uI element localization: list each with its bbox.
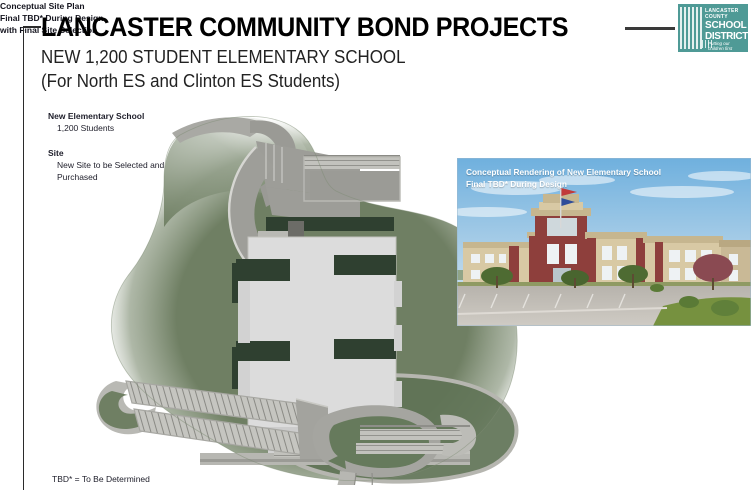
logo-tagline: Putting our children first [708,41,732,51]
left-vertical-rule [23,26,24,490]
annotation-school-body: 1,200 Students [48,122,144,134]
rendering-caption-line-1: Conceptual Rendering of New Elementary S… [466,166,661,178]
annotation-school-heading: New Elementary School [48,110,144,122]
logo-wordmark: LANCASTER COUNTY SCHOOL DISTRICT [705,8,746,42]
header-horizontal-rule [625,27,675,30]
subtitle-line-2: (For North ES and Clinton ES Students) [41,70,340,92]
logo-bars-icon [680,7,704,49]
conceptual-rendering-photo: Conceptual Rendering of New Elementary S… [457,158,751,326]
subtitle-line-1: NEW 1,200 STUDENT ELEMENTARY SCHOOL [41,46,406,68]
rendering-caption-line-2: Final TBD* During Design [466,178,661,190]
footnote-tbd: TBD* = To Be Determined [52,474,150,484]
logo-tagline-line-2: children first [708,46,732,51]
page-title: LANCASTER COMMUNITY BOND PROJECTS [41,12,568,42]
logo-line-school: SCHOOL [705,20,746,31]
title-elbow-rule [23,26,41,28]
annotation-site: Site New Site to be Selected and Purchas… [48,147,164,183]
slide-canvas: LANCASTER COMMUNITY BOND PROJECTS NEW 1,… [0,0,751,500]
lancaster-county-school-district-logo: LANCASTER COUNTY SCHOOL DISTRICT Putting… [678,4,748,52]
annotation-site-body-line-2: Purchased [48,171,164,183]
annotation-site-heading: Site [48,147,164,159]
annotation-new-elementary-school: New Elementary School 1,200 Students [48,110,144,134]
rendering-caption: Conceptual Rendering of New Elementary S… [466,166,661,190]
annotation-site-body-line-1: New Site to be Selected and [48,159,164,171]
annotation-plan-line-1: Conceptual Site Plan [0,0,751,12]
